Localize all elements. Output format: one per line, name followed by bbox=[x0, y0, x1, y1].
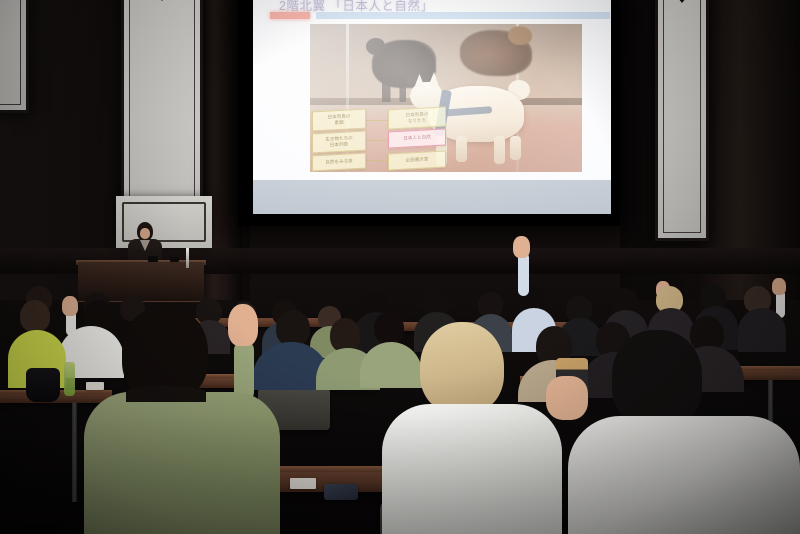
accent-blue-segment bbox=[316, 12, 610, 19]
audience-head-mid-c2 bbox=[330, 318, 360, 352]
audience-body-b13 bbox=[738, 308, 786, 352]
handbag bbox=[26, 368, 60, 402]
projection-screen-surface: 2階北翼 「日本人と自然」 bbox=[253, 0, 611, 214]
slide-letterbox bbox=[253, 180, 611, 214]
navbox-1[interactable]: 日本列島の なりたち bbox=[388, 106, 446, 129]
hand-raised-front-left bbox=[228, 304, 258, 346]
collar-front-left bbox=[126, 386, 206, 402]
desk-leg-mid-left bbox=[72, 402, 77, 502]
audience-body-front-blonde-white bbox=[382, 404, 562, 534]
podium-item-2 bbox=[170, 257, 179, 262]
specimen-dark-dog-head bbox=[366, 38, 385, 55]
slide-photo-museum-exhibit: 日本列島の 素顔 日本列島の なりたち 生き物たちの 日本列島 日本人と自然 自… bbox=[310, 24, 582, 172]
hand-holding-cup bbox=[546, 376, 588, 420]
wall-panel-right bbox=[658, 0, 706, 238]
wall-panel-far-left bbox=[0, 0, 26, 110]
audience-head-hoodie bbox=[84, 300, 112, 328]
hand-raised-back-right-2 bbox=[772, 278, 786, 295]
lecturer-face bbox=[140, 228, 150, 239]
microphone bbox=[186, 248, 189, 268]
phone-on-desk bbox=[324, 484, 358, 500]
hand-raised-mid-right bbox=[513, 236, 530, 258]
navbox-connector-3 bbox=[366, 160, 388, 161]
paper-mid-left bbox=[86, 382, 104, 390]
audience-head-front-blonde bbox=[420, 322, 504, 414]
navbox-2[interactable]: 生き物たちの 日本列島 bbox=[312, 131, 366, 154]
arm-mid-right-blue bbox=[518, 252, 529, 296]
projection-screen-frame: 2階北翼 「日本人と自然」 bbox=[238, 0, 620, 226]
lecture-hall-photo: 2階北翼 「日本人と自然」 bbox=[0, 0, 800, 534]
navbox-5[interactable]: 企画展示室 bbox=[388, 150, 446, 170]
audience-head-longhair bbox=[20, 300, 50, 332]
navbox-connector-1 bbox=[366, 120, 388, 121]
specimen-brown-animal-head bbox=[508, 26, 532, 45]
specimen-white-dog-leg-4 bbox=[510, 136, 521, 160]
panel-notch-left bbox=[149, 0, 175, 1]
navbox-connector-2 bbox=[366, 140, 388, 141]
podium-item-1 bbox=[148, 256, 158, 262]
specimen-white-dog-leg-3 bbox=[494, 136, 505, 164]
panel-notch-right bbox=[669, 0, 695, 3]
audience-head-mid-c3 bbox=[374, 312, 404, 344]
hand-raised-hoodie bbox=[62, 296, 78, 316]
navbox-3-highlighted[interactable]: 日本人と自然 bbox=[388, 128, 446, 148]
audience-head-front-right bbox=[612, 330, 702, 428]
audience-body-front-left-olive bbox=[84, 392, 280, 534]
slide-accent-bar bbox=[270, 12, 610, 19]
water-bottle bbox=[64, 362, 75, 396]
specimen-white-dog-leg-2 bbox=[456, 136, 467, 162]
audience-head-navy bbox=[276, 310, 310, 346]
accent-red-segment bbox=[270, 12, 310, 19]
paper-front-desk bbox=[290, 478, 316, 489]
audience-body-front-right-white bbox=[568, 416, 800, 534]
navbox-4[interactable]: 自然をみる技 bbox=[312, 153, 366, 172]
navbox-0[interactable]: 日本列島の 素顔 bbox=[312, 109, 366, 132]
